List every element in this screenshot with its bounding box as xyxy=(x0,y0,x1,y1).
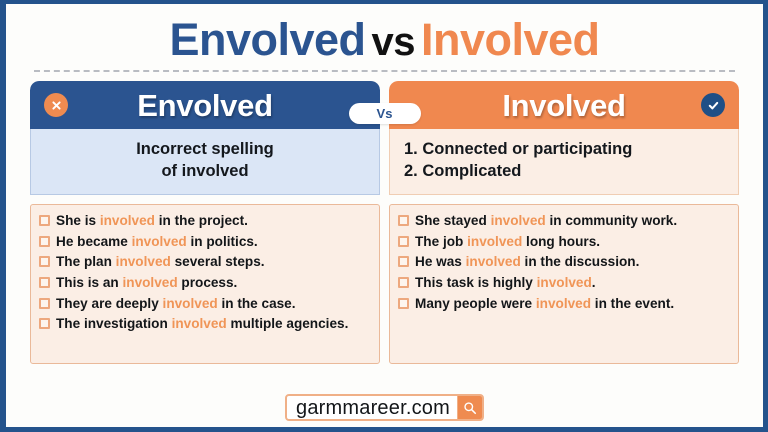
example-text-before: The plan xyxy=(56,254,116,269)
site-logo-text: garmmareer.com xyxy=(287,396,457,419)
checkbox-square-icon xyxy=(39,298,50,309)
example-text-after: . xyxy=(592,275,596,290)
example-text-after: process. xyxy=(178,275,238,290)
title-divider xyxy=(34,70,735,72)
card-envolved-header: Envolved xyxy=(30,81,380,129)
checkbox-square-icon xyxy=(39,215,50,226)
example-highlight-word: involved xyxy=(536,296,591,311)
example-item: He was involved in the discussion. xyxy=(398,253,730,271)
definition-line: Incorrect spelling xyxy=(41,139,369,161)
example-item: This is an involved process. xyxy=(39,274,371,292)
example-highlight-word: involved xyxy=(491,213,546,228)
title-connector: vs xyxy=(372,20,416,64)
title-right-word: Involved xyxy=(421,14,600,65)
example-item: They are deeply involved in the case. xyxy=(39,295,371,313)
comparison-cards: Envolved Incorrect spelling of involved … xyxy=(6,81,763,195)
example-text-after: in the event. xyxy=(591,296,674,311)
checkbox-square-icon xyxy=(398,256,409,267)
card-envolved-body: Incorrect spelling of involved xyxy=(30,129,380,195)
poster-frame: EnvolvedvsInvolved Envolved xyxy=(0,0,768,432)
example-text-before: She is xyxy=(56,213,100,228)
example-list-involved: She stayed involved in community work.Th… xyxy=(389,204,739,364)
example-highlight-word: involved xyxy=(467,234,522,249)
example-text-after: in politics. xyxy=(187,234,258,249)
example-text-after: in the discussion. xyxy=(521,254,640,269)
example-text-after: in the project. xyxy=(155,213,248,228)
example-highlight-word: involved xyxy=(116,254,171,269)
example-text-after: in the case. xyxy=(218,296,296,311)
definition-line: 2. Complicated xyxy=(404,161,728,183)
example-text: The job involved long hours. xyxy=(415,233,600,251)
example-item: This task is highly involved. xyxy=(398,274,730,292)
example-text-before: The investigation xyxy=(56,316,172,331)
card-envolved: Envolved Incorrect spelling of involved xyxy=(30,81,380,195)
example-highlight-word: involved xyxy=(172,316,227,331)
definition-line: of involved xyxy=(41,161,369,183)
checkbox-square-icon xyxy=(398,298,409,309)
card-involved-heading: Involved xyxy=(502,90,625,121)
definition-line: 1. Connected or participating xyxy=(404,139,728,161)
card-envolved-inner: Envolved Incorrect spelling of involved xyxy=(30,81,380,195)
check-circle-icon xyxy=(701,93,725,117)
example-highlight-word: involved xyxy=(537,275,592,290)
cross-circle-icon xyxy=(44,93,68,117)
card-involved: Involved 1. Connected or participating 2… xyxy=(389,81,739,195)
card-envolved-heading: Envolved xyxy=(137,90,272,121)
checkbox-square-icon xyxy=(398,215,409,226)
example-highlight-word: involved xyxy=(466,254,521,269)
magnifier-icon[interactable] xyxy=(457,396,482,419)
example-item: The investigation involved multiple agen… xyxy=(39,315,371,333)
example-text: The investigation involved multiple agen… xyxy=(56,315,348,333)
card-involved-header: Involved xyxy=(389,81,739,129)
page-title: EnvolvedvsInvolved xyxy=(6,4,763,70)
example-list-envolved: She is involved in the project.He became… xyxy=(30,204,380,364)
example-text: This task is highly involved. xyxy=(415,274,596,292)
example-lists: She is involved in the project.He became… xyxy=(6,195,763,364)
example-highlight-word: involved xyxy=(122,275,177,290)
example-item: The plan involved several steps. xyxy=(39,253,371,271)
example-highlight-word: involved xyxy=(132,234,187,249)
poster-page: EnvolvedvsInvolved Envolved xyxy=(6,4,763,427)
example-text: This is an involved process. xyxy=(56,274,237,292)
example-text-after: in community work. xyxy=(546,213,677,228)
example-text-after: several steps. xyxy=(171,254,265,269)
example-item: She stayed involved in community work. xyxy=(398,212,730,230)
title-text: EnvolvedvsInvolved xyxy=(169,17,599,62)
example-item: She is involved in the project. xyxy=(39,212,371,230)
vs-badge-label: Vs xyxy=(377,107,393,120)
example-item: The job involved long hours. xyxy=(398,233,730,251)
example-text-before: They are deeply xyxy=(56,296,163,311)
site-logo[interactable]: garmmareer.com xyxy=(285,394,484,421)
example-text-before: This task is highly xyxy=(415,275,537,290)
example-text-before: She stayed xyxy=(415,213,491,228)
example-text-before: He became xyxy=(56,234,132,249)
checkbox-square-icon xyxy=(398,236,409,247)
checkbox-square-icon xyxy=(39,277,50,288)
example-item: He became involved in politics. xyxy=(39,233,371,251)
vs-badge: Vs xyxy=(349,103,421,124)
card-involved-inner: Involved 1. Connected or participating 2… xyxy=(389,81,739,195)
example-text: He was involved in the discussion. xyxy=(415,253,639,271)
card-involved-body: 1. Connected or participating 2. Complic… xyxy=(389,129,739,195)
checkbox-square-icon xyxy=(398,277,409,288)
example-text-before: This is an xyxy=(56,275,122,290)
example-text: She stayed involved in community work. xyxy=(415,212,677,230)
example-text-before: The job xyxy=(415,234,467,249)
example-highlight-word: involved xyxy=(163,296,218,311)
title-left-word: Envolved xyxy=(169,14,365,65)
example-text: He became involved in politics. xyxy=(56,233,258,251)
example-text: She is involved in the project. xyxy=(56,212,248,230)
example-text: The plan involved several steps. xyxy=(56,253,265,271)
checkbox-square-icon xyxy=(39,318,50,329)
footer: garmmareer.com xyxy=(6,394,763,421)
example-text: Many people were involved in the event. xyxy=(415,295,674,313)
example-text: They are deeply involved in the case. xyxy=(56,295,296,313)
example-text-before: Many people were xyxy=(415,296,536,311)
example-item: Many people were involved in the event. xyxy=(398,295,730,313)
checkbox-square-icon xyxy=(39,236,50,247)
example-text-after: long hours. xyxy=(522,234,600,249)
checkbox-square-icon xyxy=(39,256,50,267)
example-text-after: multiple agencies. xyxy=(227,316,349,331)
example-text-before: He was xyxy=(415,254,466,269)
example-highlight-word: involved xyxy=(100,213,155,228)
